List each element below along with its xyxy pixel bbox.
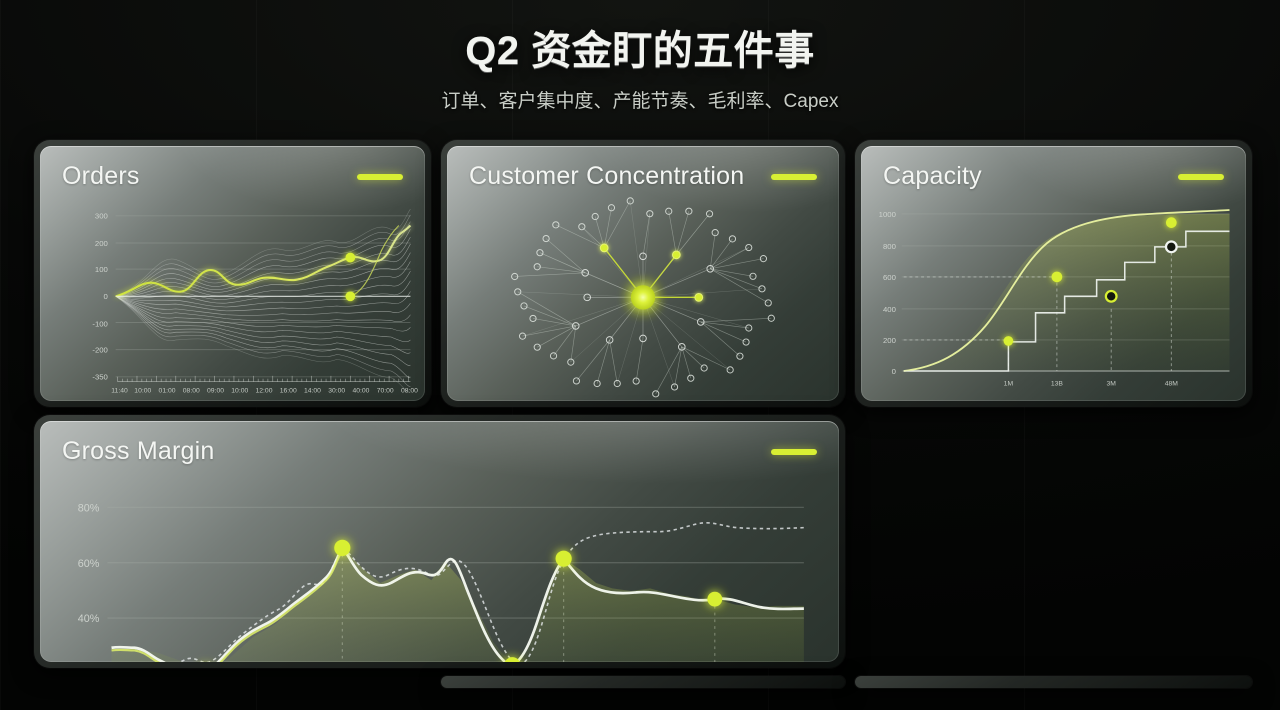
- card-capacity[interactable]: Capacity: [855, 140, 1252, 407]
- card-capex[interactable]: Capex: [855, 676, 1252, 688]
- svg-text:08:00: 08:00: [183, 387, 200, 394]
- svg-text:13B: 13B: [1051, 381, 1064, 388]
- svg-text:-350: -350: [92, 373, 108, 382]
- card-customer-concentration[interactable]: Customer Concentration: [441, 140, 845, 407]
- svg-text:30:00: 30:00: [328, 387, 345, 394]
- page-subtitle: 订单、客户集中度、产能节奏、毛利率、Capex: [0, 86, 1280, 113]
- accent-marker-icon: [357, 174, 403, 180]
- capacity-x-axis: 1M 13B 3M 48M: [1004, 381, 1179, 388]
- svg-text:3M: 3M: [1106, 381, 1116, 388]
- card-orders[interactable]: Orders: [34, 140, 431, 407]
- dashboard-grid: Orders: [34, 140, 1246, 678]
- svg-text:48M: 48M: [1165, 381, 1179, 388]
- card-customer-title: Customer Concentration: [469, 162, 744, 191]
- card-margin-panel: Gross Margin: [40, 421, 839, 662]
- svg-text:80%: 80%: [78, 502, 100, 514]
- svg-text:1M: 1M: [1004, 381, 1014, 388]
- svg-text:200: 200: [883, 336, 896, 345]
- accent-marker-icon: [771, 449, 817, 455]
- accent-marker-icon: [1178, 174, 1224, 180]
- svg-text:10:00: 10:00: [231, 387, 248, 394]
- svg-text:1000: 1000: [879, 210, 896, 219]
- svg-text:10:00: 10:00: [134, 387, 151, 394]
- svg-text:16:00: 16:00: [280, 387, 297, 394]
- svg-text:70:00: 70:00: [377, 387, 394, 394]
- svg-text:12:00: 12:00: [256, 387, 273, 394]
- svg-text:09:00: 09:00: [207, 387, 224, 394]
- svg-text:01:00: 01:00: [159, 387, 176, 394]
- svg-text:600: 600: [883, 273, 896, 282]
- svg-text:0: 0: [104, 292, 108, 301]
- page-title: Q2 资金盯的五件事: [0, 18, 1280, 76]
- svg-text:800: 800: [883, 242, 896, 251]
- card-customer-panel: Customer Concentration: [447, 146, 839, 401]
- card-orders-panel: Orders: [40, 146, 425, 401]
- svg-text:40:00: 40:00: [353, 387, 370, 394]
- card-margin-header: Gross Margin: [62, 437, 817, 466]
- card-customer-header: Customer Concentration: [469, 162, 817, 191]
- svg-text:60%: 60%: [78, 558, 100, 570]
- svg-text:11:40: 11:40: [111, 387, 128, 394]
- svg-text:08:00: 08:00: [401, 387, 418, 394]
- card-connector[interactable]: [441, 676, 845, 688]
- card-orders-header: Orders: [62, 162, 403, 191]
- svg-text:40%: 40%: [78, 613, 100, 625]
- card-gross-margin[interactable]: Gross Margin: [34, 415, 845, 668]
- customer-hub-node: [631, 285, 655, 309]
- card-margin-title: Gross Margin: [62, 437, 214, 466]
- orders-y-axis: 300 200 100 0 -100 -200 -350: [92, 212, 108, 382]
- card-capacity-panel: Capacity: [861, 146, 1246, 401]
- capacity-y-axis: 1000 800 600 400 200 0: [879, 210, 896, 376]
- svg-text:200: 200: [95, 239, 108, 248]
- card-capacity-header: Capacity: [883, 162, 1224, 191]
- accent-marker-icon: [771, 174, 817, 180]
- svg-text:300: 300: [95, 212, 108, 221]
- card-orders-title: Orders: [62, 162, 140, 191]
- svg-text:-200: -200: [92, 346, 108, 355]
- page-header: Q2 资金盯的五件事 订单、客户集中度、产能节奏、毛利率、Capex: [0, 18, 1280, 113]
- svg-text:0: 0: [892, 367, 896, 376]
- svg-text:100: 100: [95, 265, 108, 274]
- svg-text:400: 400: [883, 305, 896, 314]
- svg-text:14:00: 14:00: [304, 387, 321, 394]
- margin-y-axis: 80% 60% 40% 20% 10%: [78, 502, 100, 662]
- orders-markers: [345, 253, 355, 301]
- svg-text:-100: -100: [92, 319, 108, 328]
- card-capacity-title: Capacity: [883, 162, 982, 191]
- orders-x-axis: 11:40 10:00 01:00 08:00 09:00 10:00 12:0…: [111, 387, 418, 394]
